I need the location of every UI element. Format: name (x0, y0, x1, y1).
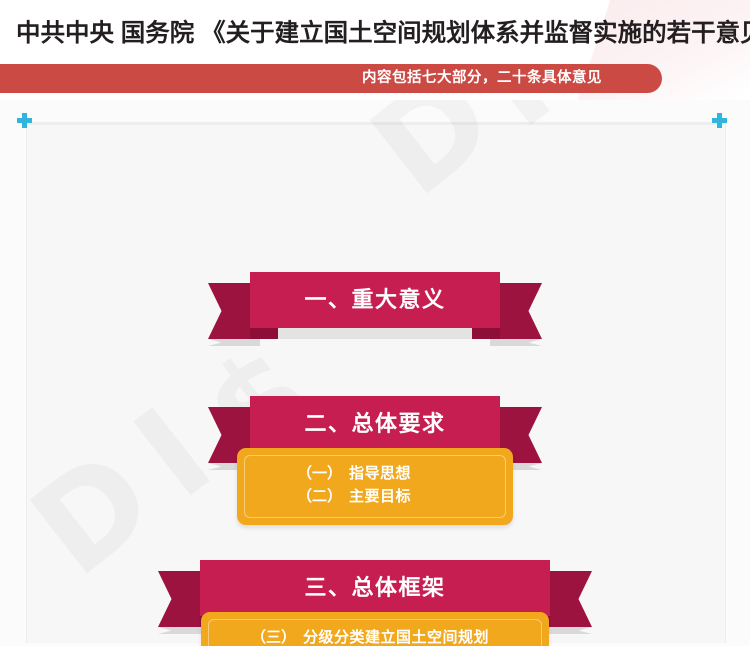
content-area: D I $ D I 一、重大意义 (0, 100, 750, 646)
section-3-title: 三、总体框架 (158, 560, 592, 616)
section-3-item-list: （三） 分级分类建立国土空间规划 （四） 明确各级国土空间总体规划编制重点 （五… (201, 626, 549, 646)
item-number: （二） (297, 485, 349, 508)
subtitle-banner-text: 内容包括七大部分，二十条具体意见 (362, 64, 602, 93)
section-2-title: 二、总体要求 (208, 396, 542, 452)
section-2-item-box: （一） 指导思想 （二） 主要目标 (237, 448, 513, 525)
ribbon-shadow (250, 328, 500, 339)
ribbon-fold-left (250, 328, 278, 339)
top-divider (26, 122, 724, 125)
item-label: 主要目标 (349, 485, 411, 508)
section-3-ribbon[interactable]: 三、总体框架 (158, 560, 592, 616)
header: 中共中央 国务院 《关于建立国土空间规划体系并监督实施的若干意见》 内容包括七大… (0, 0, 750, 100)
list-item[interactable]: （二） 主要目标 (297, 485, 513, 508)
section-2: 二、总体要求 （一） 指导思想 （二） 主要目标 (208, 396, 542, 525)
ribbon-fold-right (472, 328, 500, 339)
plus-marker-left-icon (17, 113, 32, 128)
section-2-ribbon[interactable]: 二、总体要求 (208, 396, 542, 452)
item-label: 指导思想 (349, 462, 411, 485)
list-item[interactable]: （三） 分级分类建立国土空间规划 (251, 626, 549, 646)
item-number: （三） (251, 626, 303, 646)
section-1-title: 一、重大意义 (208, 272, 542, 328)
item-label: 分级分类建立国土空间规划 (303, 626, 489, 646)
item-number: （一） (297, 462, 349, 485)
page-title: 中共中央 国务院 《关于建立国土空间规划体系并监督实施的若干意见》 (16, 22, 750, 47)
subtitle-banner: 内容包括七大部分，二十条具体意见 (0, 64, 662, 93)
section-2-item-list: （一） 指导思想 （二） 主要目标 (237, 462, 513, 508)
plus-marker-right-icon (712, 113, 727, 128)
section-1: 一、重大意义 (208, 272, 542, 328)
list-item[interactable]: （一） 指导思想 (297, 462, 513, 485)
section-3: 三、总体框架 （三） 分级分类建立国土空间规划 （四） 明确各级国土空间总体规划… (158, 560, 592, 646)
section-1-ribbon[interactable]: 一、重大意义 (208, 272, 542, 328)
section-3-item-box: （三） 分级分类建立国土空间规划 （四） 明确各级国土空间总体规划编制重点 （五… (201, 612, 549, 646)
infographic-page: 中共中央 国务院 《关于建立国土空间规划体系并监督实施的若干意见》 内容包括七大… (0, 0, 750, 646)
